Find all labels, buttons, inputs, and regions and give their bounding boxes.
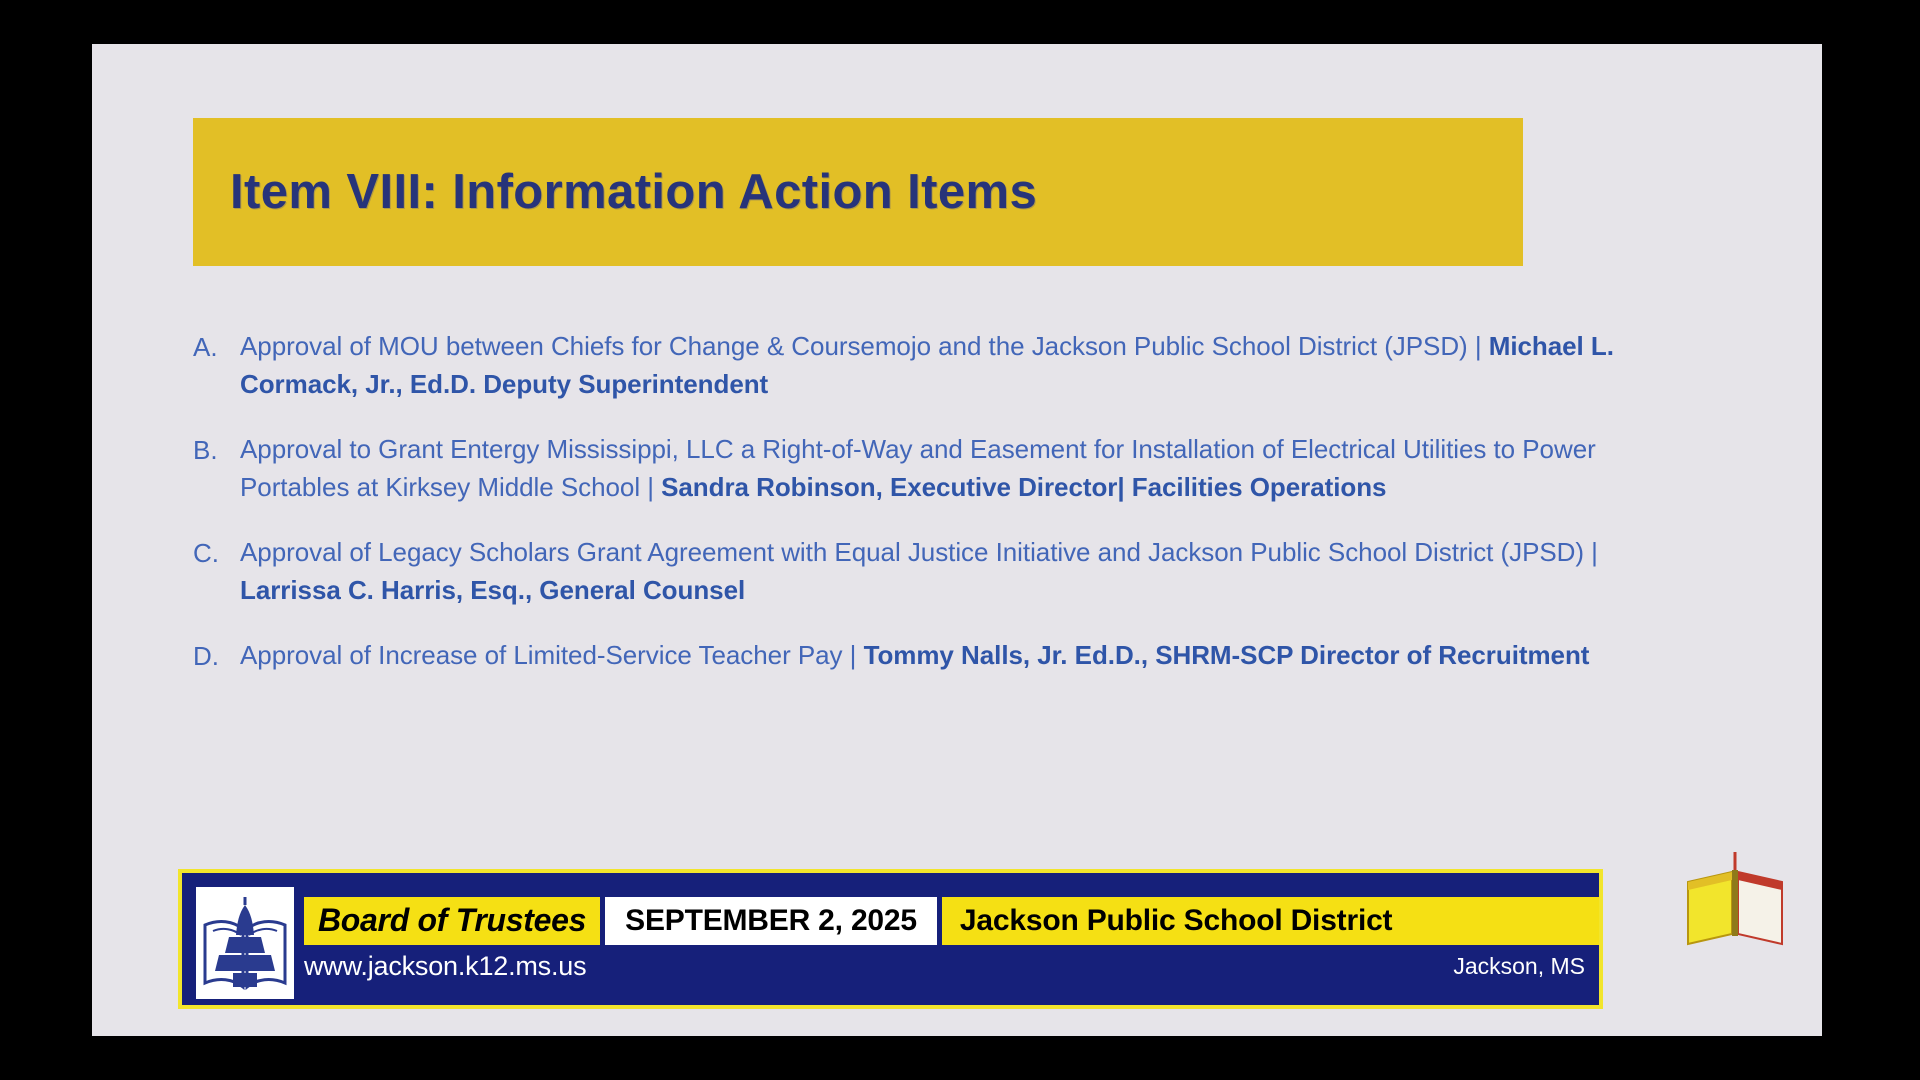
capitol-dome-book-logo bbox=[196, 887, 294, 999]
footer-subrow: www.jackson.k12.ms.us Jackson, MS bbox=[304, 951, 1599, 982]
letterbox-bar-right bbox=[1822, 0, 1920, 1080]
letterbox-bar-bottom bbox=[0, 1036, 1920, 1080]
district-city-label: Jackson, MS bbox=[1453, 953, 1585, 980]
footer-badges: Board of Trustees SEPTEMBER 2, 2025 Jack… bbox=[304, 897, 1599, 945]
slide-title-banner: Item VIII: Information Action Items bbox=[193, 118, 1523, 266]
agenda-list: A. Approval of MOU between Chiefs for Ch… bbox=[193, 327, 1663, 702]
district-website-url: www.jackson.k12.ms.us bbox=[304, 951, 586, 982]
list-item-body: Approval to Grant Entergy Mississippi, L… bbox=[240, 430, 1663, 506]
district-name-badge: Jackson Public School District bbox=[942, 897, 1599, 945]
list-item-body: Approval of Increase of Limited-Service … bbox=[240, 636, 1663, 674]
letterbox-bar-left bbox=[0, 0, 92, 1080]
open-book-icon bbox=[1680, 848, 1790, 958]
presentation-slide: Item VIII: Information Action Items A. A… bbox=[92, 44, 1822, 1036]
list-item-letter: B. bbox=[193, 430, 240, 469]
board-of-trustees-badge: Board of Trustees bbox=[304, 897, 600, 945]
letterbox-bar-top bbox=[0, 0, 1920, 44]
list-item-body: Approval of MOU between Chiefs for Chang… bbox=[240, 327, 1663, 403]
list-item: D. Approval of Increase of Limited-Servi… bbox=[193, 636, 1663, 675]
video-frame: Item VIII: Information Action Items A. A… bbox=[0, 0, 1920, 1080]
list-item: B. Approval to Grant Entergy Mississippi… bbox=[193, 430, 1663, 506]
list-item-letter: D. bbox=[193, 636, 240, 675]
list-item-text: Approval of Increase of Limited-Service … bbox=[240, 640, 864, 670]
list-item-presenter: Larrissa C. Harris, Esq., General Counse… bbox=[240, 575, 745, 605]
footer-content: Board of Trustees SEPTEMBER 2, 2025 Jack… bbox=[294, 873, 1599, 1005]
list-item-letter: A. bbox=[193, 327, 240, 366]
list-item-presenter: Tommy Nalls, Jr. Ed.D., SHRM-SCP Directo… bbox=[864, 640, 1590, 670]
list-item: A. Approval of MOU between Chiefs for Ch… bbox=[193, 327, 1663, 403]
footer-banner: Board of Trustees SEPTEMBER 2, 2025 Jack… bbox=[178, 869, 1603, 1009]
meeting-date-badge: SEPTEMBER 2, 2025 bbox=[605, 897, 937, 945]
list-item-text: Approval of Legacy Scholars Grant Agreem… bbox=[240, 537, 1598, 567]
list-item-body: Approval of Legacy Scholars Grant Agreem… bbox=[240, 533, 1663, 609]
list-item-presenter: Sandra Robinson, Executive Director| Fac… bbox=[661, 472, 1386, 502]
list-item-text: Approval of MOU between Chiefs for Chang… bbox=[240, 331, 1489, 361]
list-item-letter: C. bbox=[193, 533, 240, 572]
page-title: Item VIII: Information Action Items bbox=[193, 164, 1037, 220]
list-item: C. Approval of Legacy Scholars Grant Agr… bbox=[193, 533, 1663, 609]
